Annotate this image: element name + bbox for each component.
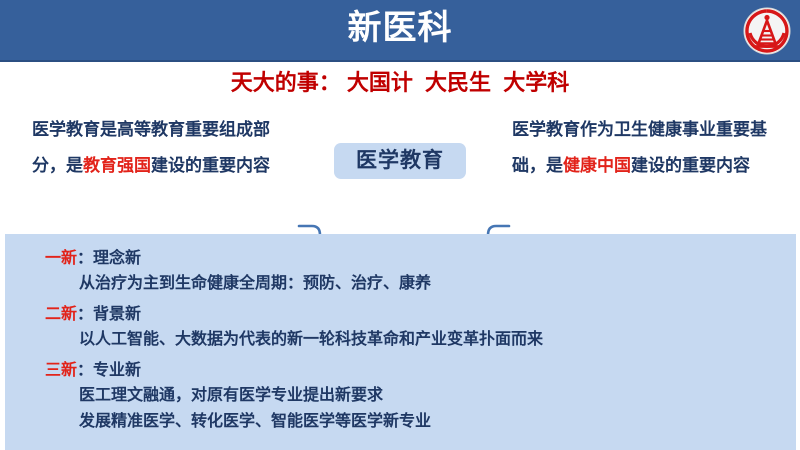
point-3-number: 三新	[45, 362, 77, 379]
point-2-heading: 二新：背景新	[45, 302, 796, 327]
left-branch-highlight: 教育强国	[83, 156, 151, 175]
three-new-points-panel: 一新：理念新 从治疗为主到生命健康全周期：预防、治疗、康养 二新：背景新 以人工…	[5, 234, 796, 450]
point-3-line-2: 发展精准医学、转化医学、智能医学等医学新专业	[45, 409, 796, 435]
point-2-separator: ：	[77, 306, 93, 323]
right-branch-part2: 建设的重要内容	[631, 156, 750, 175]
point-1-title: 理念新	[93, 250, 141, 267]
right-branch-highlight: 健康中国	[563, 156, 631, 175]
point-1-number: 一新	[45, 250, 77, 267]
point-1-heading: 一新：理念新	[45, 246, 796, 271]
point-3-title: 专业新	[93, 362, 141, 379]
mindmap-left-branch-text: 医学教育是高等教育重要组成部分，是教育强国建设的重要内容	[32, 112, 294, 184]
header-bar: 新医科	[0, 0, 800, 62]
point-group-2: 二新：背景新 以人工智能、大数据为代表的新一轮科技革命和产业变革扑面而来	[5, 302, 796, 353]
left-branch-part2: 建设的重要内容	[151, 156, 270, 175]
mindmap-right-branch-text: 医学教育作为卫生健康事业重要基础，是健康中国建设的重要内容	[512, 112, 784, 184]
point-2-line-1: 以人工智能、大数据为代表的新一轮科技革命和产业变革扑面而来	[45, 327, 796, 353]
page-title: 新医科	[0, 6, 800, 50]
point-1-separator: ：	[77, 250, 93, 267]
point-3-heading: 三新：专业新	[45, 358, 796, 383]
point-2-number: 二新	[45, 306, 77, 323]
point-3-line-1: 医工理文融通，对原有医学专业提出新要求	[45, 383, 796, 409]
point-group-3: 三新：专业新 医工理文融通，对原有医学专业提出新要求 发展精准医学、转化医学、智…	[5, 358, 796, 435]
mindmap-center-node: 医学教育	[334, 143, 466, 179]
point-2-title: 背景新	[93, 306, 141, 323]
subtitle-slogan: 天大的事： 大国计 大民生 大学科	[0, 68, 800, 98]
point-1-line-1: 从治疗为主到生命健康全周期：预防、治疗、康养	[45, 271, 796, 297]
tianjin-university-logo-icon	[742, 6, 792, 56]
point-3-separator: ：	[77, 362, 93, 379]
point-group-1: 一新：理念新 从治疗为主到生命健康全周期：预防、治疗、康养	[5, 246, 796, 297]
